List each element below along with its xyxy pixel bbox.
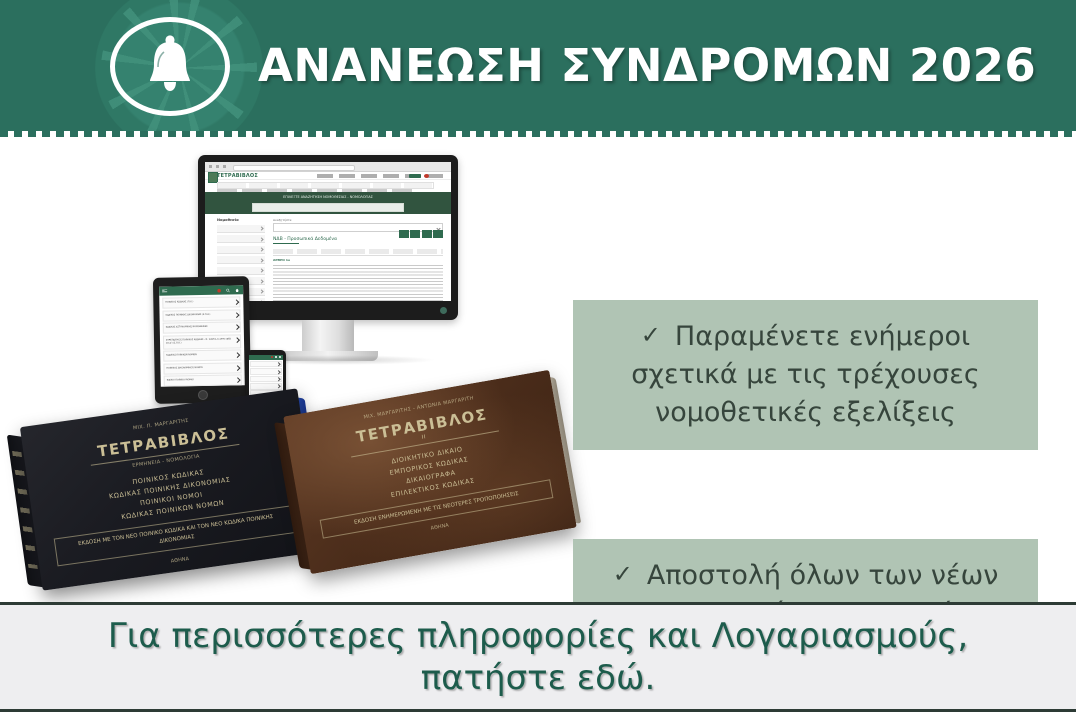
site-filter-label: Αναζητήστε: — [273, 218, 443, 222]
list-item-label: ΚΩΔΙΚΑΣ ΑΣΤΥΝΟΜΙΚΗΣ ΝΟΜΟΘΕΣΙΑΣ — [166, 326, 215, 329]
browser-nav-icons — [209, 165, 227, 168]
site-sidebar-item — [217, 246, 265, 254]
site-action-button — [433, 230, 443, 238]
list-item[interactable] — [250, 361, 281, 368]
list-item[interactable]: ΠΟΙΝΙΚΟΣ ΚΩΔΙΚΑΣ (Π.Κ.) — [162, 296, 240, 308]
benefit-callout-1-text: Παραμένετε ενήμεροι σχετικά με τις τρέχο… — [631, 321, 979, 429]
list-item[interactable] — [250, 368, 281, 375]
site-main-nav — [217, 182, 434, 189]
browser-url-bar — [233, 165, 355, 171]
banner-header: ΑΝΑΝΕΩΣΗ ΣΥΝΔΡΟΜΩΝ 2026 — [0, 0, 1076, 131]
list-item-label: ΚΩΔΙΚΑΣ ΠΟΙΝΙΚΩΝ ΝΟΜΩΝ — [166, 354, 204, 357]
site-sidebar-title: Νομοθεσία — [217, 218, 265, 222]
site-body-text — [273, 265, 443, 302]
book-brown: ΜΙΧ. ΜΑΡΓΑΡΙΤΗΣ - ΑΝΤΩΝΙΑ ΜΑΡΓΑΡΙΤΗ ΤΕΤΡ… — [283, 370, 577, 574]
page-title: ΑΝΑΝΕΩΣΗ ΣΥΝΔΡΟΜΩΝ 2026 — [258, 0, 1036, 131]
tablet-screen: ΠΟΙΝΙΚΟΣ ΚΩΔΙΚΑΣ (Π.Κ.) ΚΩΔΙΚΑΣ ΠΟΙΝΙΚΗΣ… — [159, 285, 245, 386]
list-item[interactable]: ΚΩΔΙΚΑΣ ΠΟΙΝΙΚΗΣ ΔΙΚΟΝΟΜΙΑΣ (Κ.Π.Δ.) — [162, 309, 240, 321]
list-item-label: ΠΟΙΝΙΚΟΣ ΔΙΚΟΝΟΜΙΚΟΣ ΝΟΜΟΣ — [166, 367, 209, 370]
site-action-button — [422, 230, 432, 238]
benefit-callout-1: ✓Παραμένετε ενήμεροι σχετικά με τις τρέχ… — [573, 300, 1038, 450]
hamburger-icon — [162, 290, 167, 293]
list-item[interactable]: ΚΩΔΙΚΑΣ ΑΣΤΥΝΟΜΙΚΗΣ ΝΟΜΟΘΕΣΙΑΣ — [163, 321, 241, 333]
subscription-renewal-banner: ΑΝΑΝΕΩΣΗ ΣΥΝΔΡΟΜΩΝ 2026 — [0, 0, 1076, 712]
site-cart-badge — [424, 174, 429, 178]
site-heading-underline — [273, 243, 299, 244]
site-search-input — [252, 203, 404, 212]
tablet-app-bar — [159, 285, 243, 295]
footer-cta-line-1: Για περισσότερες πληροφορίες και Λογαρια… — [108, 615, 968, 658]
site-sidebar-item — [217, 235, 265, 243]
tablet-menu-list: ΠΟΙΝΙΚΟΣ ΚΩΔΙΚΑΣ (Π.Κ.) ΚΩΔΙΚΑΣ ΠΟΙΝΙΚΗΣ… — [159, 294, 245, 386]
footer-cta-text: Για περισσότερες πληροφορίες και Λογαρια… — [108, 615, 968, 700]
home-icon — [279, 356, 281, 358]
monitor-stand-neck — [302, 320, 354, 355]
site-section-title: ΑΡΘΡΟ 1ο — [273, 258, 443, 262]
site-topbar: ΤΕΤΡΑΒΙΒΛΟΣ — [205, 172, 451, 180]
search-icon — [226, 288, 230, 292]
site-search-band: ΕΠΙΛΕΞΤΕ ΑΝΑΖΗΤΗΣΗ ΝΟΜΟΘΕΣΙΑΣ - ΝΟΜΟΛΟΓΙ… — [205, 192, 451, 214]
site-action-buttons — [399, 230, 444, 238]
site-tabs-underline — [273, 255, 443, 256]
search-icon — [275, 356, 277, 358]
site-login-button — [409, 174, 421, 178]
site-search-band-label: ΕΠΙΛΕΞΤΕ ΑΝΑΖΗΤΗΣΗ ΝΟΜΟΘΕΣΙΑΣ - ΝΟΜΟΛΟΓΙ… — [283, 195, 373, 199]
bell-icon — [146, 34, 194, 96]
list-item-label: ΣΤΡΑΤΙΩΤΙΚΟΣ ΠΟΙΝΙΚΟΣ ΚΩΔΙΚΑΣ - Ν. 2287/… — [166, 338, 240, 344]
site-sidebar-item — [217, 225, 265, 233]
site-action-button — [399, 230, 409, 238]
main-content: ΤΕΤΡΑΒΙΒΛΟΣ ΕΠΙΛΕΞΤΕ ΑΝΑΖΗΤΗΣΗ ΝΟΜΟΘΕΣΙΑ… — [0, 137, 1076, 602]
site-sidebar-item — [217, 267, 265, 275]
site-main-column: Αναζητήστε: ΝΔΒ - Προσωπικά Δεδομένα — [273, 218, 443, 301]
list-item[interactable]: ΣΤΡΑΤΙΩΤΙΚΟΣ ΠΟΙΝΙΚΟΣ ΚΩΔΙΚΑΣ - Ν. 2287/… — [163, 334, 241, 349]
book-cover: ΜΙΧ. ΜΑΡΓΑΡΙΤΗΣ - ΑΝΤΩΝΙΑ ΜΑΡΓΑΡΙΤΗ ΤΕΤΡ… — [283, 370, 577, 574]
check-icon: ✓ — [613, 560, 633, 588]
notification-icon — [217, 288, 221, 292]
check-icon: ✓ — [641, 321, 661, 349]
list-item-label: ΚΩΔΙΚΑΣ ΠΟΙΝΙΚΗΣ ΔΙΚΟΝΟΜΙΑΣ (Κ.Π.Δ.) — [166, 313, 218, 316]
site-sidebar-item — [217, 256, 265, 264]
list-item[interactable]: ΠΟΙΝΙΚΟΣ ΔΙΚΟΝΟΜΙΚΟΣ ΝΟΜΟΣ — [163, 362, 241, 374]
book-navy: ΜΙΧ. Π. ΜΑΡΓΑΡΙΤΗΣ ΤΕΤΡΑΒΙΒΛΟΣ ΕΡΜΗΝΕΙΑ … — [20, 388, 320, 590]
browser-chrome — [205, 162, 451, 172]
footer-cta[interactable]: Για περισσότερες πληροφορίες και Λογαρια… — [0, 602, 1076, 712]
list-item[interactable]: ΚΩΔΙΚΑΣ ΠΟΙΝΙΚΩΝ ΝΟΜΩΝ — [163, 349, 241, 361]
devices-cluster: ΤΕΤΡΑΒΙΒΛΟΣ ΕΠΙΛΕΞΤΕ ΑΝΑΖΗΤΗΣΗ ΝΟΜΟΘΕΣΙΑ… — [140, 155, 540, 405]
site-tabs — [273, 249, 443, 254]
phone-app-bar — [249, 355, 283, 360]
site-logo-text: ΤΕΤΡΑΒΙΒΛΟΣ — [217, 173, 258, 179]
list-item-label: ΠΟΙΝΙΚΟΣ ΚΩΔΙΚΑΣ (Π.Κ.) — [165, 301, 200, 304]
footer-cta-line-2: πατήστε εδώ. — [108, 657, 968, 700]
notification-icon — [271, 356, 273, 358]
books-cluster: ΜΙΧ. Π. ΜΑΡΓΑΡΙΤΗΣ ΤΕΤΡΑΒΙΒΛΟΣ ΕΡΜΗΝΕΙΑ … — [25, 382, 565, 597]
book-cover: ΜΙΧ. Π. ΜΑΡΓΑΡΙΤΗΣ ΤΕΤΡΑΒΙΒΛΟΣ ΕΡΜΗΝΕΙΑ … — [20, 388, 320, 590]
monitor-power-led — [440, 307, 447, 314]
site-action-button — [410, 230, 420, 238]
home-icon — [235, 288, 239, 292]
